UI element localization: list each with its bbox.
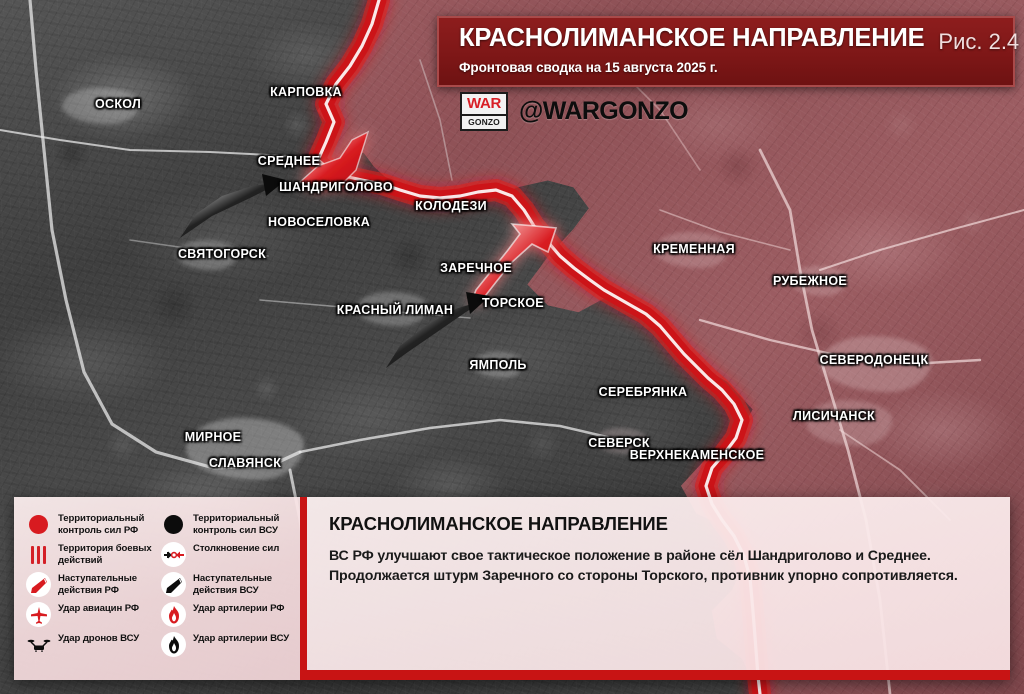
black-arrow-icon-wrap (161, 572, 186, 597)
legend-item-label: Столкновение сил (193, 542, 279, 555)
clash-arrows-icon-wrap (161, 542, 186, 567)
red-circle-icon-wrap (26, 512, 51, 537)
black-drone-icon (26, 632, 51, 657)
brand-row: WAR GONZO @WARGONZO (460, 92, 688, 131)
logo-word-war: WAR (467, 96, 501, 111)
header-title-bar: КРАСНОЛИМАНСКОЕ НАПРАВЛЕНИЕ Фронтовая св… (437, 16, 1015, 87)
red-stripes-icon-wrap (26, 542, 51, 567)
page-title: КРАСНОЛИМАНСКОЕ НАПРАВЛЕНИЕ (459, 25, 924, 53)
black-circle-icon (164, 515, 183, 534)
info-panel-accent-bar (307, 670, 1010, 680)
offensive-arrow-rf-torskoe (470, 224, 556, 306)
offensive-arrow-ukr-shandrigolovo (180, 174, 286, 238)
black-arrow-icon (161, 572, 186, 597)
brand-handle: @WARGONZO (519, 97, 688, 126)
legend-item-label: Наступательные действия РФ (58, 572, 155, 596)
black-drone-icon-wrap (26, 632, 51, 657)
red-arrow-icon-wrap (26, 572, 51, 597)
red-circle-icon (29, 515, 48, 534)
info-panel: КРАСНОЛИМАНСКОЕ НАПРАВЛЕНИЕ ВС РФ улучша… (307, 497, 1010, 680)
wargonzo-logo: WAR GONZO (460, 92, 508, 131)
legend-item: Удар авиацин РФ (26, 602, 155, 627)
legend-item: Столкновение сил (161, 542, 290, 567)
page-subtitle: Фронтовая сводка на 15 августа 2025 г. (459, 60, 924, 75)
red-arrow-icon (26, 572, 51, 597)
black-flame-icon (161, 632, 186, 657)
legend-item: Территория боевых действий (26, 542, 155, 567)
legend-item-label: Территориальный контроль сил РФ (58, 512, 155, 536)
legend-item-label: Территория боевых действий (58, 542, 155, 566)
bottom-panels: Территориальный контроль сил РФТерритори… (14, 497, 1010, 680)
legend-item-label: Удар артилерии ВСУ (193, 632, 289, 645)
red-plane-icon (26, 602, 51, 627)
info-panel-title: КРАСНОЛИМАНСКОЕ НАПРАВЛЕНИЕ (329, 513, 988, 535)
red-plane-icon-wrap (26, 602, 51, 627)
figure-label: Рис. 2.4 (938, 29, 1019, 55)
legend-item: Удар артилерии РФ (161, 602, 290, 627)
legend-item: Наступательные действия ВСУ (161, 572, 290, 597)
red-stripes-icon (31, 546, 47, 564)
red-flame-icon (161, 602, 186, 627)
offensive-arrow-ukr-torskoe (386, 292, 490, 368)
legend-item-label: Удар артилерии РФ (193, 602, 284, 615)
clash-arrows-icon (161, 542, 186, 567)
black-flame-icon-wrap (161, 632, 186, 657)
legend-item: Наступательные действия РФ (26, 572, 155, 597)
black-circle-icon-wrap (161, 512, 186, 537)
map-infographic: КРАСНОЛИМАНСКОЕ НАПРАВЛЕНИЕ Фронтовая св… (0, 0, 1024, 694)
legend-item: Удар дронов ВСУ (26, 632, 155, 657)
legend-item: Удар артилерии ВСУ (161, 632, 290, 657)
info-panel-body: ВС РФ улучшают свое тактическое положени… (329, 546, 988, 586)
logo-divider (462, 114, 506, 116)
legend-item-label: Наступательные действия ВСУ (193, 572, 290, 596)
red-flame-icon-wrap (161, 602, 186, 627)
legend-item-label: Удар авиацин РФ (58, 602, 139, 615)
legend-item-label: Удар дронов ВСУ (58, 632, 139, 645)
legend-panel: Территориальный контроль сил РФТерритори… (14, 497, 300, 680)
logo-word-gonzo: GONZO (468, 118, 500, 127)
panel-divider (300, 497, 307, 680)
legend-item: Территориальный контроль сил РФ (26, 512, 155, 537)
legend-grid: Территориальный контроль сил РФТерритори… (26, 512, 290, 657)
legend-item-label: Территориальный контроль сил ВСУ (193, 512, 290, 536)
legend-item: Территориальный контроль сил ВСУ (161, 512, 290, 537)
